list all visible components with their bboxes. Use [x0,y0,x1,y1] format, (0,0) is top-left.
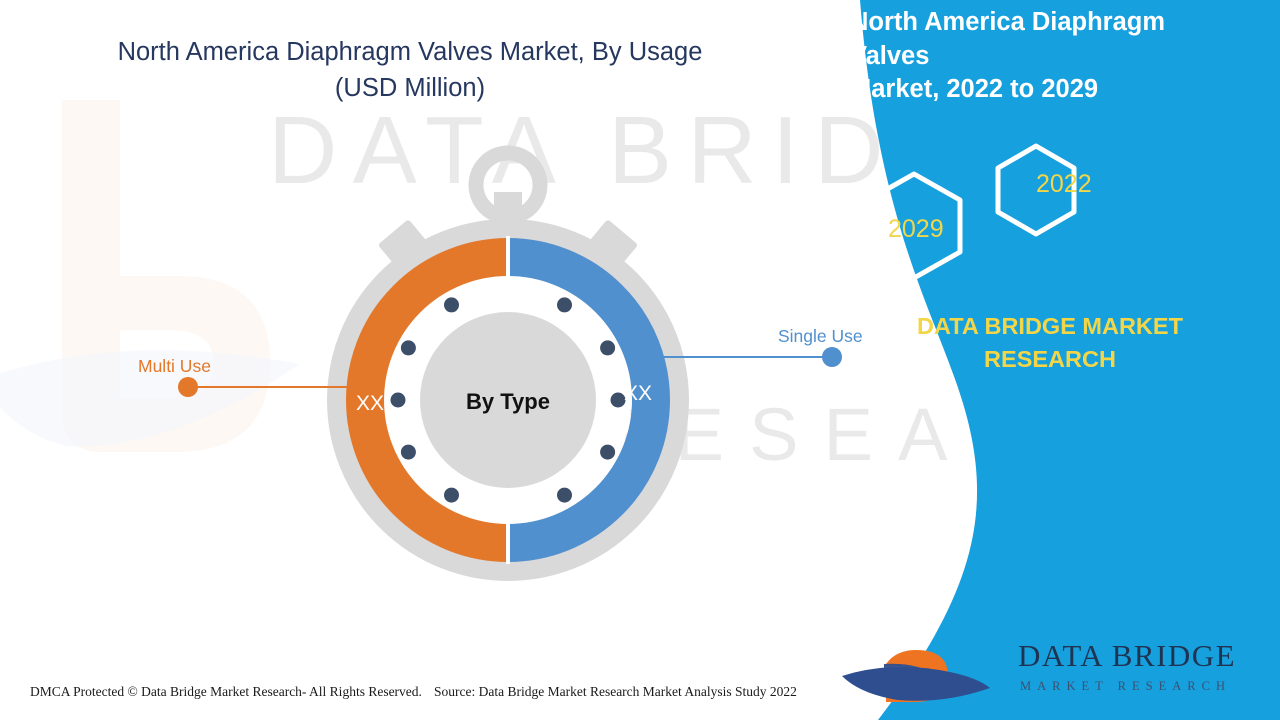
page-title-line1: North America Diaphragm Valves Market, B… [60,34,760,70]
brand-name-line2: RESEARCH [830,343,1270,376]
company-logo-svg: DATA BRIDGE MARKET RESEARCH [840,618,1270,704]
footer-dmca-notice: DMCA Protected © Data Bridge Market Rese… [30,684,422,700]
donut-value-label-single-use: XX [624,382,652,405]
page-title-line2: (USD Million) [60,70,760,106]
donut-center-label: By Type [466,389,550,414]
hexagon-2029-label: 2029 [888,215,944,244]
donut-value-label-multi-use: XX [356,392,384,415]
legend-multi-use-label: Multi Use [138,358,380,376]
legend-single-use-dot [822,347,842,367]
footer-source-note: Source: Data Bridge Market Research Mark… [434,684,797,700]
brand-panel: North America Diaphragm Valves Market, 2… [820,0,1280,720]
legend-single-use[interactable]: Single Use [760,328,990,346]
page-title: North America Diaphragm Valves Market, B… [60,34,760,106]
panel-title: North America Diaphragm Valves Market, 2… [850,6,1250,107]
panel-title-line1: North America Diaphragm Valves [850,6,1250,73]
donut-gap-top [506,236,510,278]
logo-b-mark-icon [842,624,990,702]
legend-single-use-label: Single Use [778,328,990,346]
logo-name-top: DATA BRIDGE [1018,638,1236,673]
infographic-canvas: DATA BRIDGE RESEARCH North America Diaph… [0,0,1280,720]
year-hexagons: 2022 2029 [820,140,1280,310]
donut-gap-bottom [506,522,510,564]
hexagon-2022-label: 2022 [1036,170,1092,199]
company-logo: DATA BRIDGE MARKET RESEARCH [840,618,1270,704]
footer: DMCA Protected © Data Bridge Market Rese… [0,674,860,720]
legend-multi-use-dot [178,377,198,397]
legend-single-use-connector [652,356,832,358]
logo-name-bottom: MARKET RESEARCH [1020,679,1231,693]
legend-multi-use-connector [188,386,384,388]
panel-title-line2: Market, 2022 to 2029 [850,73,1250,107]
legend-multi-use[interactable]: Multi Use [130,358,380,376]
